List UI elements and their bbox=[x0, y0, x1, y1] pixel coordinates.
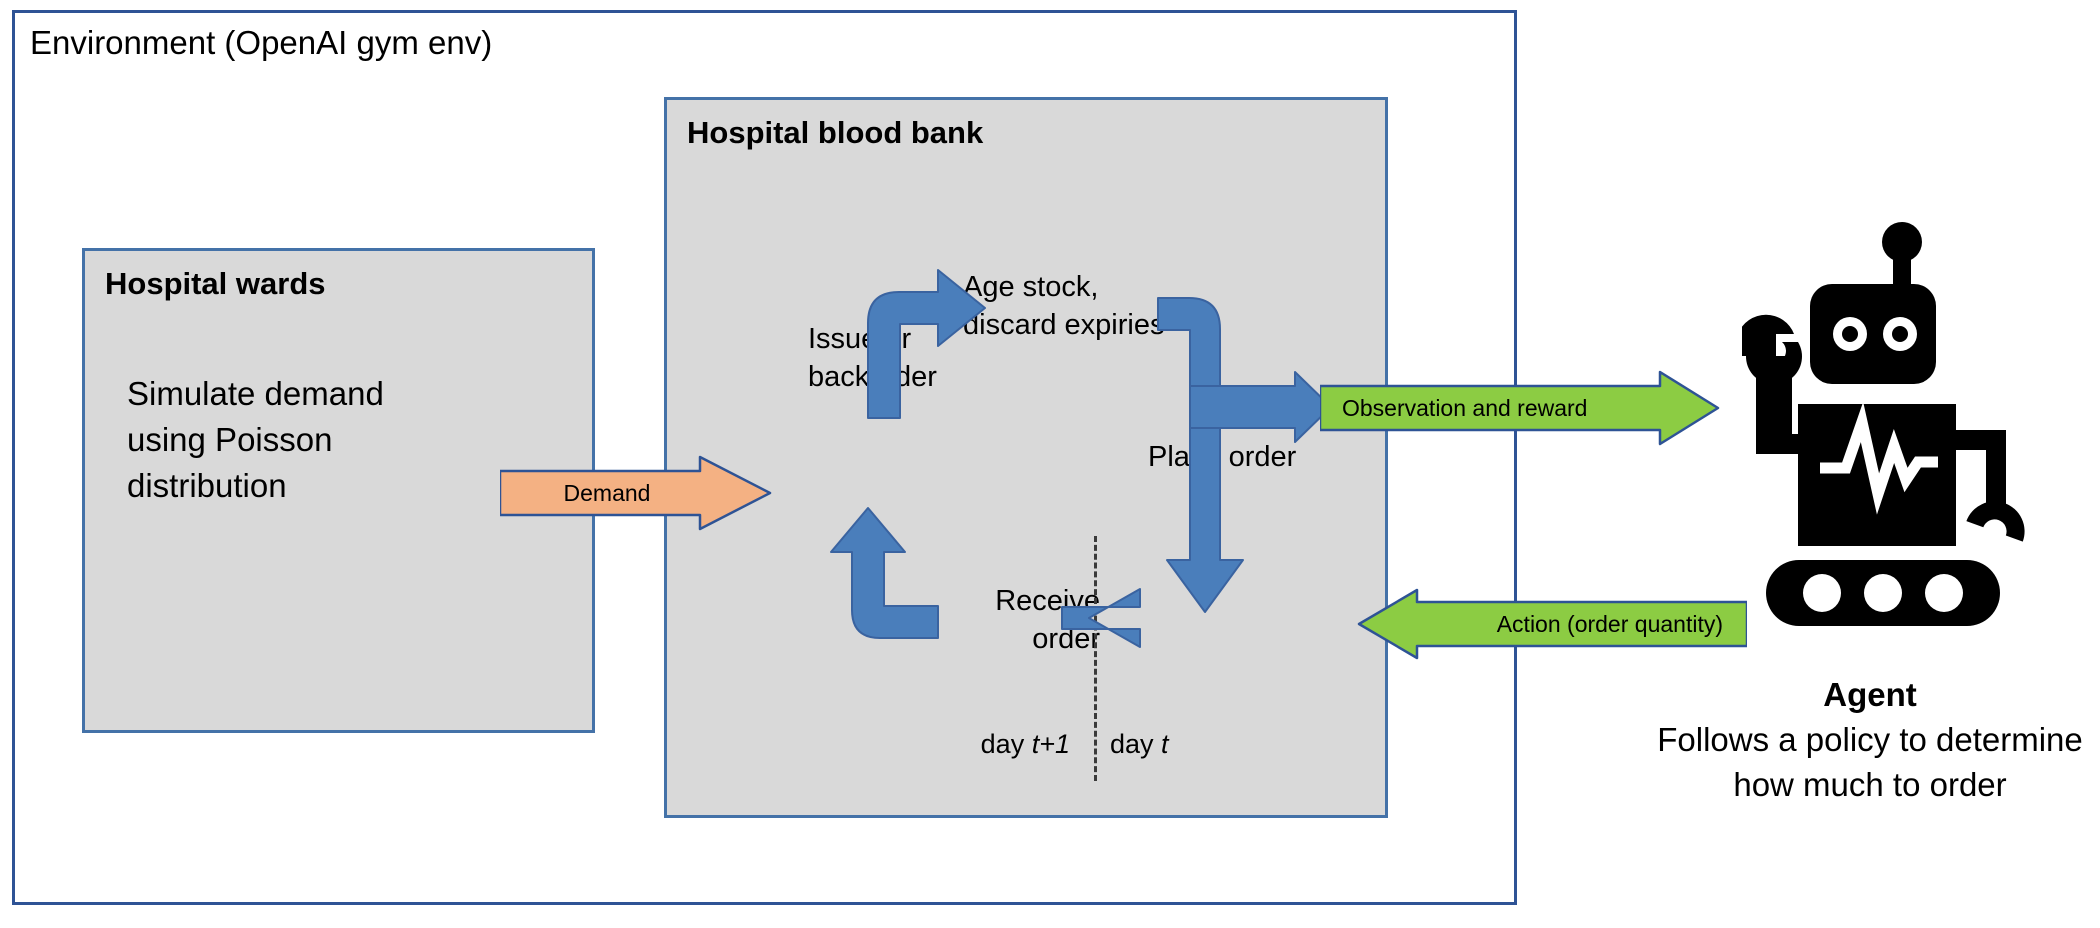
demand-arrow: Demand bbox=[500, 455, 772, 531]
observation-and-reward-arrow: Observation and reward bbox=[1320, 370, 1720, 446]
robot-icon bbox=[1742, 222, 2062, 634]
action-arrow-label: Action (order quantity) bbox=[1357, 588, 1747, 660]
day-label-current-value: t bbox=[1161, 729, 1169, 759]
agent-description: Follows a policy to determine how much t… bbox=[1657, 721, 2083, 803]
cycle-node-issue-or-backorder: Issue or backorder bbox=[808, 320, 1038, 396]
day-label-next-prefix: day bbox=[981, 729, 1032, 759]
day-label-next-value: t+1 bbox=[1032, 729, 1070, 759]
hospital-blood-bank-title: Hospital blood bank bbox=[687, 114, 983, 152]
agent-heading: Agent bbox=[1635, 672, 2100, 717]
hospital-wards-body: Simulate demand using Poisson distributi… bbox=[127, 371, 457, 509]
day-label-next: day t+1 bbox=[920, 725, 1070, 763]
day-label-current: day t bbox=[1110, 725, 1260, 763]
observation-arrow-label: Observation and reward bbox=[1320, 370, 1720, 446]
environment-title: Environment (OpenAI gym env) bbox=[30, 24, 492, 62]
demand-arrow-label: Demand bbox=[500, 455, 772, 531]
day-label-current-prefix: day bbox=[1110, 729, 1161, 759]
action-arrow: Action (order quantity) bbox=[1357, 588, 1747, 660]
diagram-canvas: Environment (OpenAI gym env) Hospital wa… bbox=[0, 0, 2100, 928]
cycle-node-receive-order: Receive order bbox=[940, 582, 1100, 658]
hospital-wards-title: Hospital wards bbox=[105, 265, 326, 303]
day-divider-line bbox=[1094, 536, 1097, 781]
agent-caption: Agent Follows a policy to determine how … bbox=[1635, 672, 2100, 807]
